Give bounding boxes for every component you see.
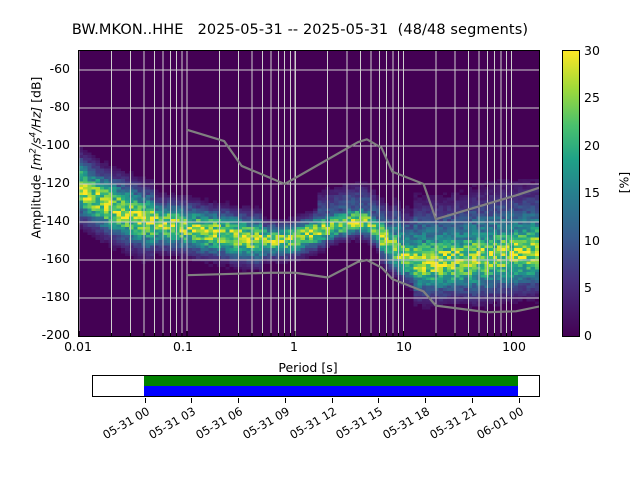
colorbar-tick-label: 15 [584, 185, 614, 200]
colorbar-tick-label: 0 [584, 328, 614, 343]
timeline-tick [332, 398, 333, 403]
ppsd-plot-area[interactable] [78, 50, 540, 337]
y-tick-label: -60 [24, 61, 70, 76]
x-tick-label: 10 [374, 339, 434, 354]
coverage-timeline[interactable] [92, 375, 540, 397]
y-tick-label: -160 [24, 251, 70, 266]
ppsd-figure: BW.MKON..HHE 2025-05-31 -- 2025-05-31 (4… [0, 0, 640, 480]
coverage-bar-top [144, 376, 518, 386]
y-tick-label: -120 [24, 175, 70, 190]
page-title: BW.MKON..HHE 2025-05-31 -- 2025-05-31 (4… [0, 22, 600, 38]
colorbar-tick-label: 10 [584, 233, 614, 248]
colorbar-tick-label: 20 [584, 138, 614, 153]
y-tick-label: -140 [24, 213, 70, 228]
x-tick-label: 1 [264, 339, 324, 354]
y-tick-label: -100 [24, 137, 70, 152]
timeline-tick [472, 398, 473, 403]
timeline-tick [238, 398, 239, 403]
x-axis-label: Period [s] [78, 360, 538, 375]
colorbar-label: [%] [617, 163, 632, 203]
x-tick-label: 0.1 [153, 339, 213, 354]
x-tick-label: 100 [484, 339, 544, 354]
timeline-tick [425, 398, 426, 403]
colorbar-tick-label: 5 [584, 280, 614, 295]
colorbar [562, 50, 580, 337]
timeline-tick [285, 398, 286, 403]
timeline-tick [145, 398, 146, 403]
y-tick-label: -80 [24, 99, 70, 114]
ppsd-histogram [79, 51, 539, 336]
coverage-bar-bottom [144, 386, 518, 396]
timeline-tick [191, 398, 192, 403]
colorbar-tick-label: 25 [584, 90, 614, 105]
x-tick-label: 0.01 [48, 339, 108, 354]
y-tick-label: -180 [24, 289, 70, 304]
timeline-tick [378, 398, 379, 403]
colorbar-tick-label: 30 [584, 43, 614, 58]
timeline-tick [519, 398, 520, 403]
